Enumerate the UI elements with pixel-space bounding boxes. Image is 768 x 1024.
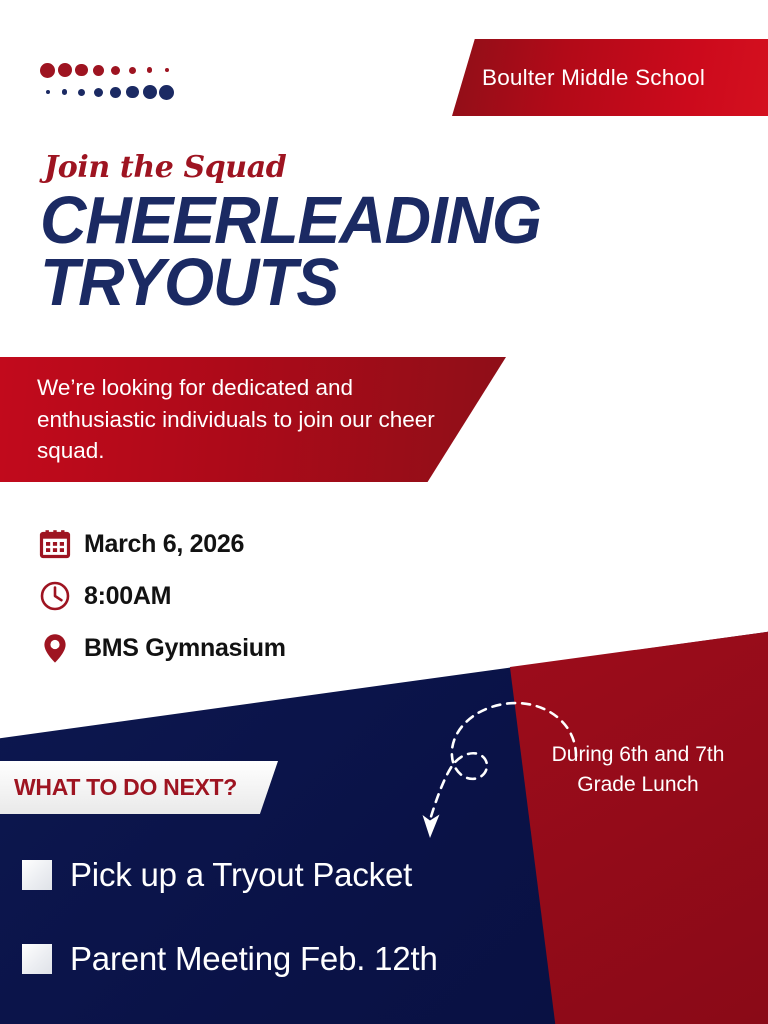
page-title: CHEERLEADING TRYOUTS [40,190,654,315]
logo-dot-bottom-7 [159,85,174,100]
description-text: We’re looking for dedicated and enthusia… [37,372,437,468]
checklist-item[interactable]: Parent Meeting Feb. 12th [22,917,542,1001]
lunch-note-text: During 6th and 7th Grade Lunch [520,740,756,800]
logo-dot-top-5 [129,67,136,74]
logo-dot-top-6 [147,67,153,73]
checkbox-icon[interactable] [22,860,52,890]
clock-icon [38,579,72,613]
checklist-item-label: Pick up a Tryout Packet [70,856,412,894]
logo-dot-bottom-6 [143,85,157,99]
next-steps-checklist: Pick up a Tryout Packet Parent Meeting F… [22,833,542,1001]
logo-dot-bottom-4 [110,87,121,98]
logo-dot-bottom-0 [46,90,50,94]
next-steps-heading-label: WHAT TO DO NEXT? [14,774,237,801]
logo-dot-top-1 [58,63,72,77]
logo-dot-top-7 [165,68,169,72]
checklist-item-label: Parent Meeting Feb. 12th [70,940,438,978]
eyebrow-text: Join the Squad [44,150,286,185]
poster-root: Boulter Middle School Join the Squad CHE… [0,0,768,1024]
logo-dot-bottom-1 [62,89,68,95]
logo-dot-top-3 [93,65,104,76]
logo-dot-top-0 [40,63,55,78]
logo-dot-top-4 [111,66,120,75]
detail-row-location: BMS Gymnasium [38,622,458,674]
event-details-list: March 6, 2026 8:00AM BMS Gymnasium [38,518,458,674]
school-name-label: Boulter Middle School [482,65,705,91]
checkbox-icon[interactable] [22,944,52,974]
calendar-icon [38,527,72,561]
detail-row-date: March 6, 2026 [38,518,458,570]
dot-pattern-logo [40,58,180,104]
page-title-line2: TRYOUTS [40,252,654,314]
location-pin-icon [38,631,72,665]
detail-value-location: BMS Gymnasium [84,634,286,663]
detail-row-time: 8:00AM [38,570,458,622]
logo-dot-bottom-3 [94,88,103,97]
detail-value-time: 8:00AM [84,582,171,611]
description-banner: We’re looking for dedicated and enthusia… [0,357,506,482]
logo-dot-top-2 [75,64,88,77]
checklist-item[interactable]: Pick up a Tryout Packet [22,833,542,917]
school-name-banner: Boulter Middle School [452,39,768,116]
logo-dot-bottom-2 [78,89,85,96]
logo-dot-bottom-5 [126,86,139,99]
next-steps-heading-banner: WHAT TO DO NEXT? [0,761,278,814]
detail-value-date: March 6, 2026 [84,530,244,559]
